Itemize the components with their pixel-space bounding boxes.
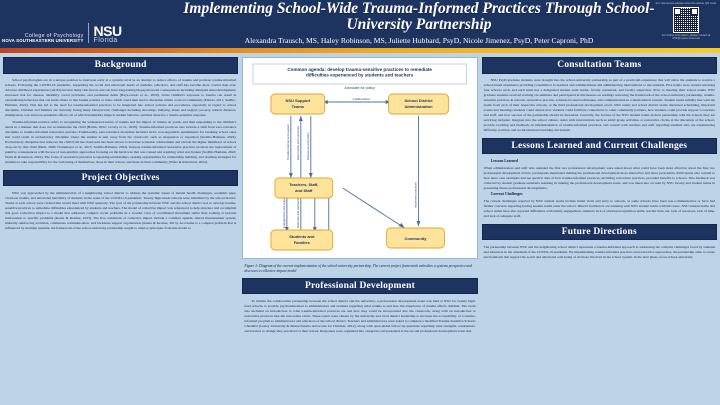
svg-text:Provide training and support: Provide training and support <box>286 124 290 160</box>
svg-text:Students and: Students and <box>290 234 316 239</box>
nsu-wordmark: NSU <box>94 24 122 38</box>
figure-panel: Common agenda: develop trauma-sensitive … <box>242 57 477 259</box>
qr-note-below: For further information, please contact … <box>654 34 718 41</box>
svg-text:and Staff: and Staff <box>296 188 314 193</box>
paragraph: The current challenges reported by NSU s… <box>484 199 715 219</box>
poster-header: College of Psychology NOVA SOUTHEASTERN … <box>0 0 720 48</box>
paragraph: NSU was approached by the administration… <box>5 191 236 231</box>
section-body-lessons-learned: Lessons Learned When administrators and … <box>482 157 717 221</box>
section-heading-future-directions: Future Directions <box>482 224 717 241</box>
nsu-logo: NSU Florida <box>94 24 122 44</box>
partnership-diagram: Common agenda: develop trauma-sensitive … <box>245 60 474 256</box>
svg-text:Report data and outcomes: Report data and outcomes <box>296 126 300 160</box>
svg-text:Engagement and support: Engagement and support <box>282 195 286 228</box>
section-body-professional-development: To initiate the collaborative partnershi… <box>242 297 477 335</box>
header-title-block: Implementing School-Wide Trauma-Informed… <box>152 0 720 45</box>
college-of-psychology-logo: College of Psychology NOVA SOUTHEASTERN … <box>2 34 88 44</box>
poster-title-line-1: Implementing School-Wide Trauma-Informed… <box>152 1 686 17</box>
svg-text:NSU Support: NSU Support <box>286 98 311 103</box>
section-heading-consultation-teams: Consultation Teams <box>482 57 717 74</box>
svg-text:School District: School District <box>405 98 434 103</box>
nsu-florida-label: Florida <box>94 37 122 44</box>
section-body-future-directions: The partnership between NSU and the neig… <box>482 243 717 261</box>
section-heading-lessons-learned: Lessons Learned and Current Challenges <box>482 138 717 155</box>
poster-columns: Background School psychologists are in a… <box>0 53 720 405</box>
section-heading-professional-development: Professional Development <box>242 278 477 295</box>
section-body-background: School psychologists are in a unique pos… <box>3 77 238 167</box>
svg-text:Advocate for policy: Advocate for policy <box>345 86 375 90</box>
paragraph: The partnership between NSU and the neig… <box>484 245 715 260</box>
svg-text:Referrals and partnership: Referrals and partnership <box>296 195 300 228</box>
svg-text:Teams: Teams <box>292 104 305 109</box>
column-center: Common agenda: develop trauma-sensitive … <box>242 57 477 405</box>
qr-block: For references please scan the above QR … <box>654 0 718 40</box>
paragraph: Trauma-informed practice refers to recog… <box>5 120 236 165</box>
paragraph: When administrators and staff who attend… <box>484 166 715 191</box>
poster-title-line-2: University Partnership <box>152 17 686 33</box>
logo-block: College of Psychology NOVA SOUTHEASTERN … <box>0 0 152 48</box>
paragraph: NSU PsyD graduate students were brought … <box>484 78 715 133</box>
svg-text:Community: Community <box>405 236 428 241</box>
svg-text:Implement practices: Implement practices <box>414 182 418 208</box>
svg-text:Teachers, Staff,: Teachers, Staff, <box>289 182 318 187</box>
svg-text:Collaboration: Collaboration <box>353 97 371 101</box>
svg-text:Resources and policy: Resources and policy <box>306 132 310 160</box>
poster-authors: Alexandra Trausch, MS, Haley Robinson, M… <box>152 36 686 45</box>
section-body-consultation-teams: NSU PsyD graduate students were brought … <box>482 77 717 135</box>
section-heading-project-objectives: Project Objectives <box>3 170 238 187</box>
paragraph: School psychologists are in a unique pos… <box>5 78 236 118</box>
column-right: Consultation Teams NSU PsyD graduate stu… <box>482 57 717 405</box>
qr-note-above: For references please scan the above QR … <box>654 0 718 6</box>
subheading-lessons-learned: Lessons Learned <box>484 159 715 164</box>
column-left: Background School psychologists are in a… <box>3 57 238 405</box>
paragraph: To initiate the collaborative partnershi… <box>244 299 475 334</box>
svg-text:Families: Families <box>294 240 311 245</box>
logo-university-label: NOVA SOUTHEASTERN UNIVERSITY <box>2 39 84 44</box>
section-heading-background: Background <box>3 57 238 74</box>
svg-text:Common agenda: develop trauma-: Common agenda: develop trauma-sensitive … <box>288 67 433 77</box>
svg-text:Administration: Administration <box>405 104 434 109</box>
subheading-current-challenges: Current Challenges <box>484 192 715 197</box>
section-body-project-objectives: NSU was approached by the administration… <box>3 189 238 232</box>
qr-code-icon[interactable] <box>673 7 699 33</box>
poster-canvas: College of Psychology NOVA SOUTHEASTERN … <box>0 0 720 405</box>
logo-divider <box>88 23 89 43</box>
figure-caption: Figure 1: Diagram of the current impleme… <box>242 262 477 275</box>
